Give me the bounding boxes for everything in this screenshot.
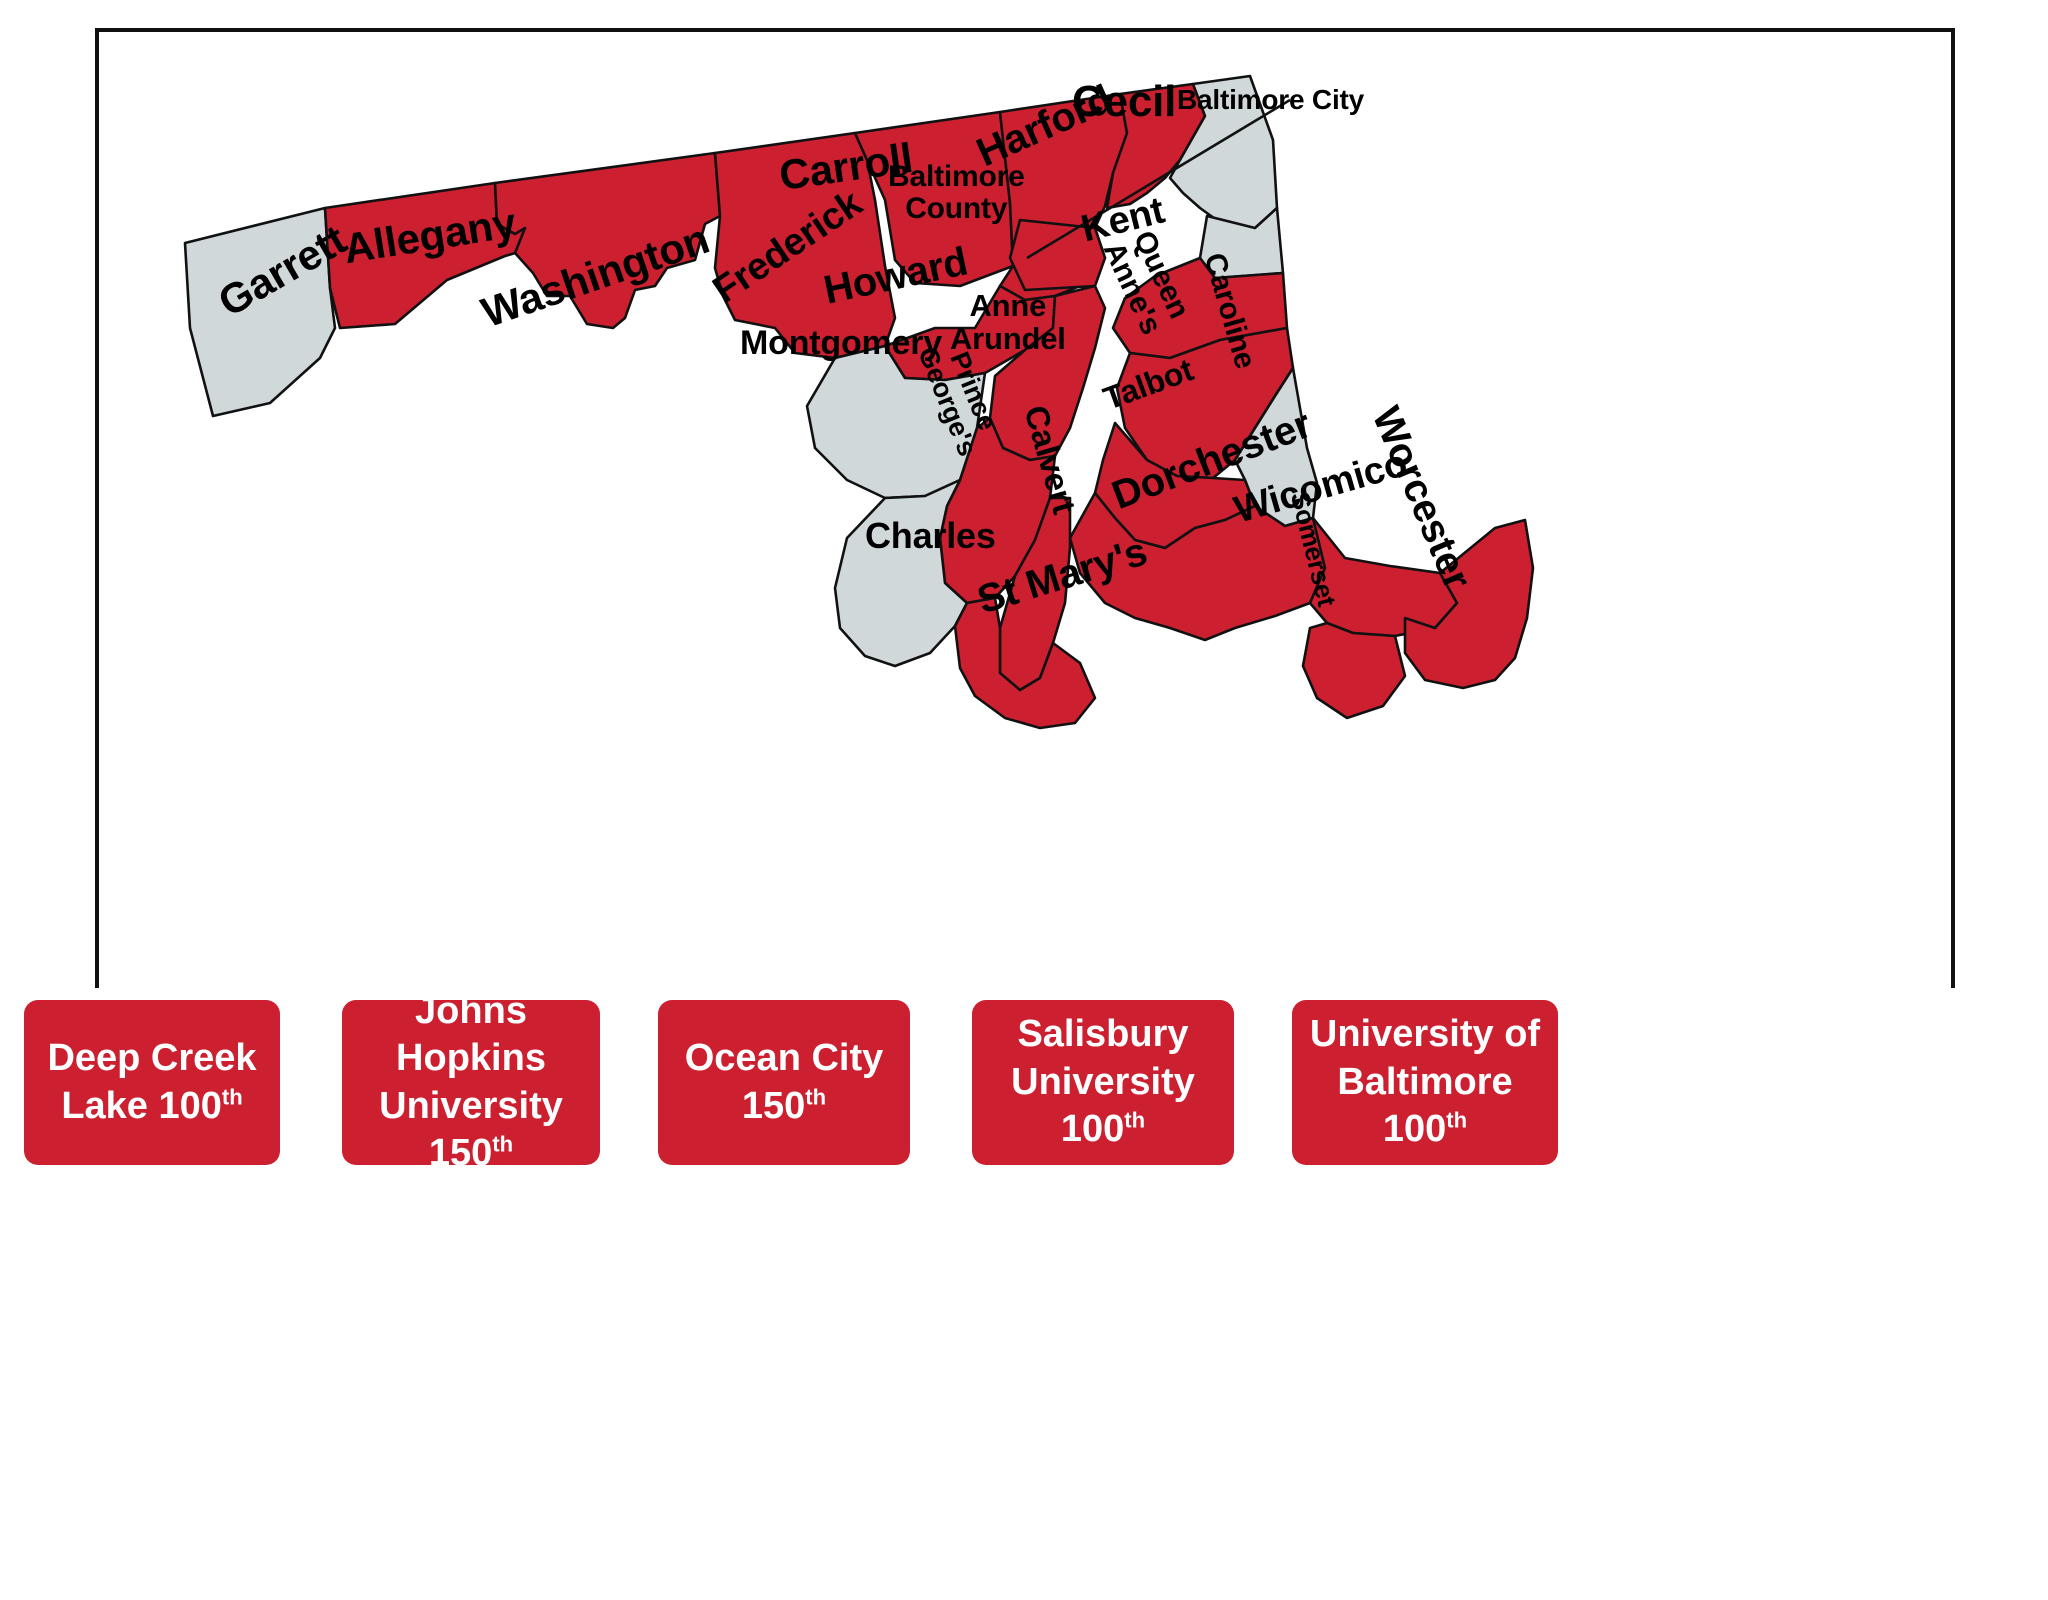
- maryland-county-map: Garrett Allegany Washington Frederick Ca…: [95, 28, 1955, 988]
- badge-johns-hopkins-line2-text: University 150: [379, 1085, 563, 1175]
- county-shape-somerset[interactable]: [1303, 623, 1405, 718]
- badge-deep-creek-lake-line2-text: Lake 100: [61, 1085, 222, 1127]
- badge-johns-hopkins-line2: University 150th: [356, 1083, 586, 1178]
- badge-salisbury-line1: Salisbury: [986, 1011, 1220, 1059]
- badge-salisbury-line2-text: University 100: [1011, 1061, 1195, 1151]
- badge-university-baltimore-ordinal: th: [1446, 1108, 1467, 1133]
- badge-deep-creek-lake-line1: Deep Creek: [47, 1035, 256, 1083]
- badge-ocean-city-line1: Ocean City: [685, 1035, 884, 1083]
- badge-johns-hopkins-ordinal: th: [492, 1131, 513, 1156]
- label-charles: Charles: [865, 518, 996, 554]
- badge-university-baltimore-line2-text: Baltimore 100: [1337, 1061, 1512, 1151]
- label-cecil: Cecil: [1072, 80, 1176, 124]
- badge-salisbury-ordinal: th: [1124, 1108, 1145, 1133]
- badge-deep-creek-lake[interactable]: Deep Creek Lake 100th: [24, 1000, 280, 1165]
- label-baltimore-county: Baltimore County: [888, 161, 1025, 224]
- badge-university-baltimore-line1: University of: [1306, 1011, 1544, 1059]
- milestone-badge-row: Deep Creek Lake 100th Johns Hopkins Univ…: [0, 1000, 2048, 1170]
- badge-johns-hopkins-line1: Johns Hopkins: [356, 988, 586, 1083]
- badge-ocean-city-line2: 150th: [685, 1083, 884, 1131]
- badge-salisbury-university[interactable]: Salisbury University 100th: [972, 1000, 1234, 1165]
- label-baltimore-county-line2: County: [888, 193, 1025, 225]
- label-baltimore-city-callout: Baltimore City: [1177, 86, 1364, 114]
- badge-university-of-baltimore[interactable]: University of Baltimore 100th: [1292, 1000, 1558, 1165]
- badge-salisbury-line2: University 100th: [986, 1059, 1220, 1154]
- badge-johns-hopkins-university[interactable]: Johns Hopkins University 150th: [342, 1000, 600, 1165]
- badge-deep-creek-lake-ordinal: th: [222, 1084, 243, 1109]
- badge-ocean-city[interactable]: Ocean City 150th: [658, 1000, 910, 1165]
- badge-university-baltimore-line2: Baltimore 100th: [1306, 1059, 1544, 1154]
- map-svg: [95, 28, 1955, 988]
- infographic-page: Garrett Allegany Washington Frederick Ca…: [0, 0, 2048, 1600]
- badge-ocean-city-ordinal: th: [805, 1084, 826, 1109]
- badge-deep-creek-lake-line2: Lake 100th: [47, 1083, 256, 1131]
- badge-ocean-city-line2-text: 150: [742, 1085, 805, 1127]
- label-anne-arundel-line1: Anne: [950, 290, 1066, 323]
